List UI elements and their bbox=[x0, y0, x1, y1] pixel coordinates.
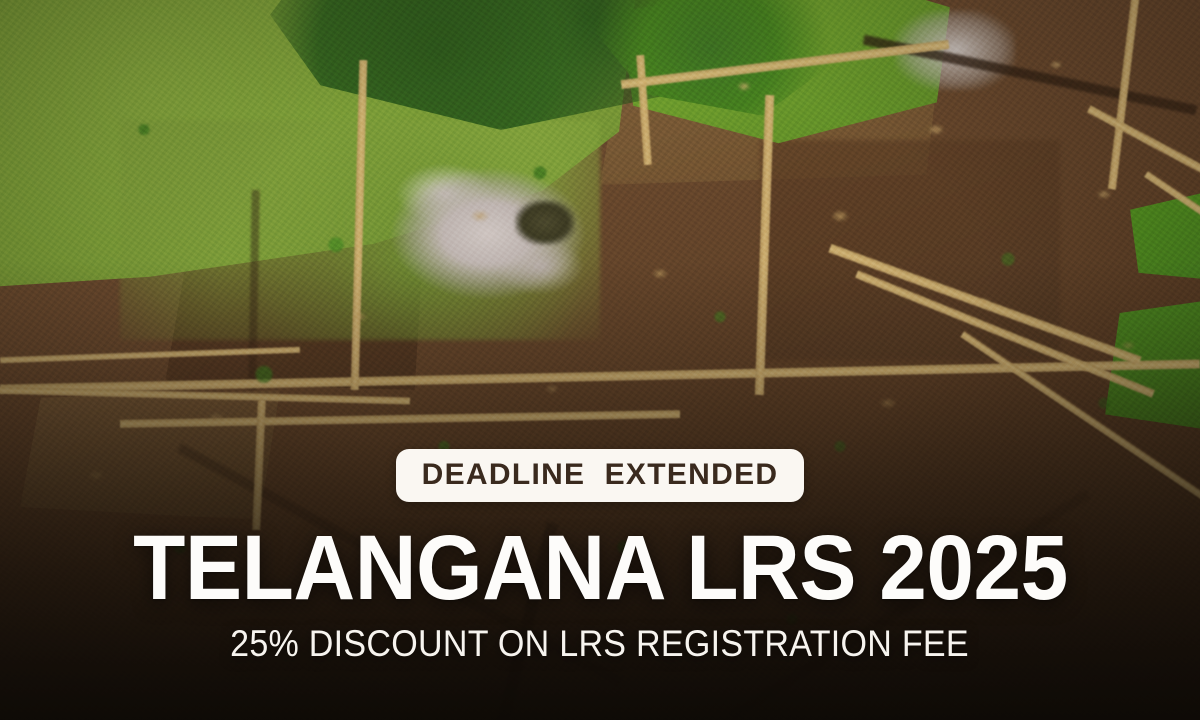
banner-title: TELANGANA LRS 2025 bbox=[133, 522, 1068, 614]
promotional-banner: DEADLINE EXTENDED TELANGANA LRS 2025 25%… bbox=[0, 0, 1200, 720]
deadline-extended-badge: DEADLINE EXTENDED bbox=[396, 449, 805, 502]
banner-subtitle: 25% DISCOUNT ON LRS REGISTRATION FEE bbox=[231, 625, 970, 662]
banner-text-block: DEADLINE EXTENDED TELANGANA LRS 2025 25%… bbox=[0, 449, 1200, 720]
